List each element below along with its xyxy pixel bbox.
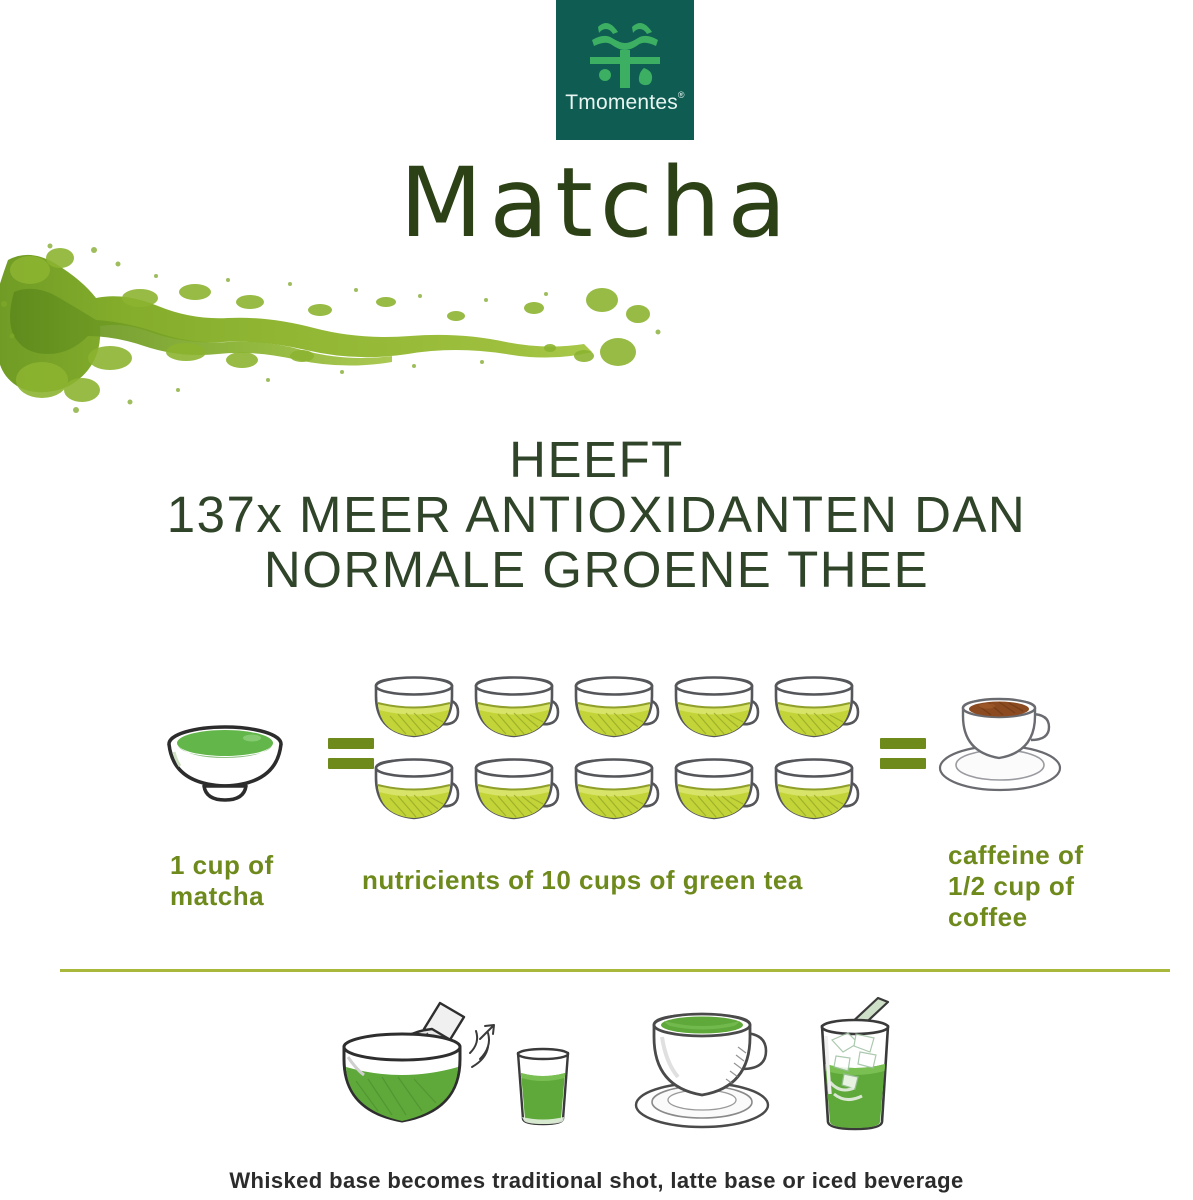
caption-nutrients: nutricients of 10 cups of green tea <box>362 865 892 896</box>
caption-coffee-line2: 1/2 cup of <box>948 871 1074 901</box>
equals-sign-2 <box>880 738 926 769</box>
coffee-cup-icon <box>935 690 1065 800</box>
section-divider <box>60 969 1170 972</box>
green-tea-cup-icon <box>366 752 466 834</box>
caption-matcha-line1: 1 cup of <box>170 850 274 880</box>
infographic-page: Tmomentes® Matcha <box>0 0 1193 1200</box>
process-row: › › <box>0 985 1193 1150</box>
green-tea-cup-icon <box>666 752 766 834</box>
green-tea-cup-icon <box>566 670 666 752</box>
brand-name: Tmomentes® <box>565 91 685 115</box>
green-tea-cup-icon <box>466 670 566 752</box>
green-tea-cup-icon <box>766 670 866 752</box>
shot-glass-icon <box>508 1047 578 1132</box>
process-footnote: Whisked base becomes traditional shot, l… <box>0 1168 1193 1194</box>
latte-cup-icon <box>630 1007 780 1137</box>
brand-logo: Tmomentes® <box>556 0 694 140</box>
whisk-bowl-icon <box>330 995 520 1150</box>
matcha-powder-splash <box>0 240 690 420</box>
caption-matcha-line2: matcha <box>170 881 264 911</box>
page-title: Matcha <box>0 155 1193 251</box>
green-tea-cup-icon <box>666 670 766 752</box>
tea-kanji-icon <box>586 13 664 89</box>
caption-matcha: 1 cup of matcha <box>170 850 360 912</box>
caption-coffee-line3: coffee <box>948 902 1028 932</box>
headline: HEEFT 137x MEER ANTIOXIDANTEN DAN NORMAL… <box>0 432 1193 597</box>
caption-coffee-line1: caffeine of <box>948 840 1084 870</box>
equivalence-row: 1 cup of matcha nutricients of 10 cups o… <box>0 660 1193 950</box>
green-tea-cup-icon <box>366 670 466 752</box>
green-tea-cup-icon <box>766 752 866 834</box>
registered-trademark-icon: ® <box>678 90 685 100</box>
green-tea-cup-icon <box>466 752 566 834</box>
iced-beverage-icon <box>800 990 910 1140</box>
headline-line-1: HEEFT <box>0 432 1193 487</box>
green-tea-cup-grid <box>366 670 866 834</box>
caption-coffee: caffeine of 1/2 cup of coffee <box>948 840 1148 933</box>
headline-line-3: NORMALE GROENE THEE <box>0 542 1193 597</box>
headline-line-2: 137x MEER ANTIOXIDANTEN DAN <box>0 487 1193 542</box>
matcha-bowl-icon <box>160 710 290 810</box>
green-tea-cup-icon <box>566 752 666 834</box>
